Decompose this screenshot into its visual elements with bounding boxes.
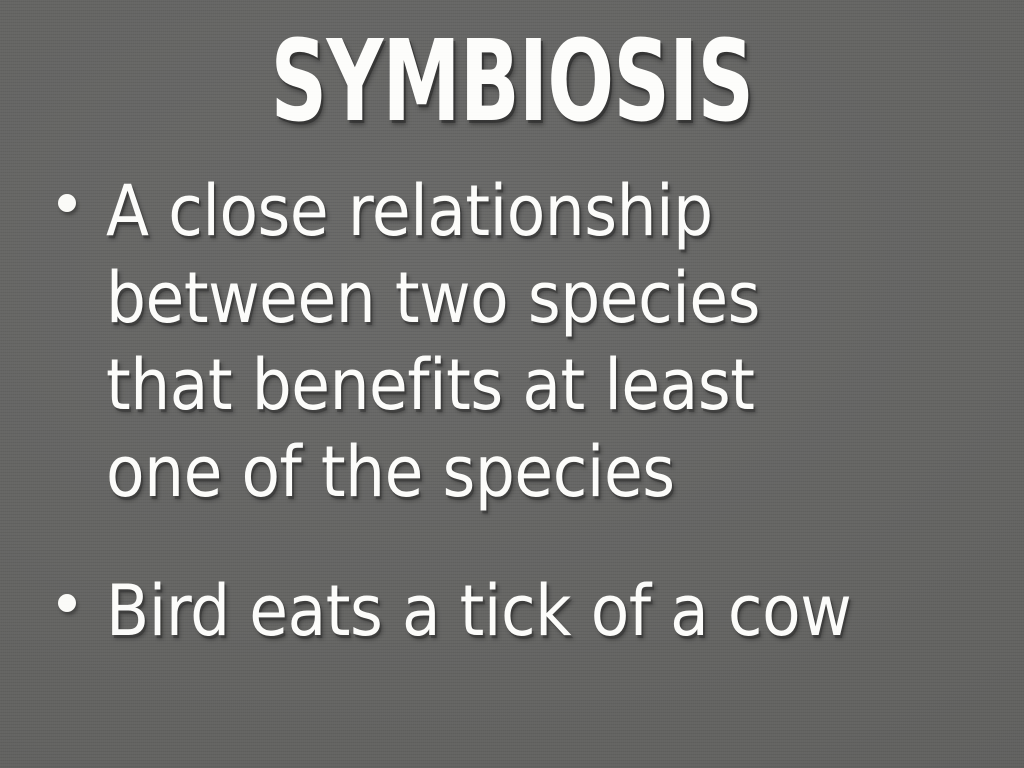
bullet-text: A close relationship between two species… bbox=[106, 168, 880, 516]
bullet-dot-icon bbox=[58, 194, 76, 212]
list-item: Bird eats a tick of a cow bbox=[58, 568, 988, 655]
presentation-slide: SYMBIOSIS A close relationship between t… bbox=[0, 0, 1024, 768]
page-title: SYMBIOSIS bbox=[154, 26, 871, 138]
bullet-text: Bird eats a tick of a cow bbox=[106, 568, 900, 655]
list-item: A close relationship between two species… bbox=[58, 168, 988, 516]
bullet-list: A close relationship between two species… bbox=[58, 168, 988, 655]
bullet-dot-icon bbox=[58, 594, 76, 612]
